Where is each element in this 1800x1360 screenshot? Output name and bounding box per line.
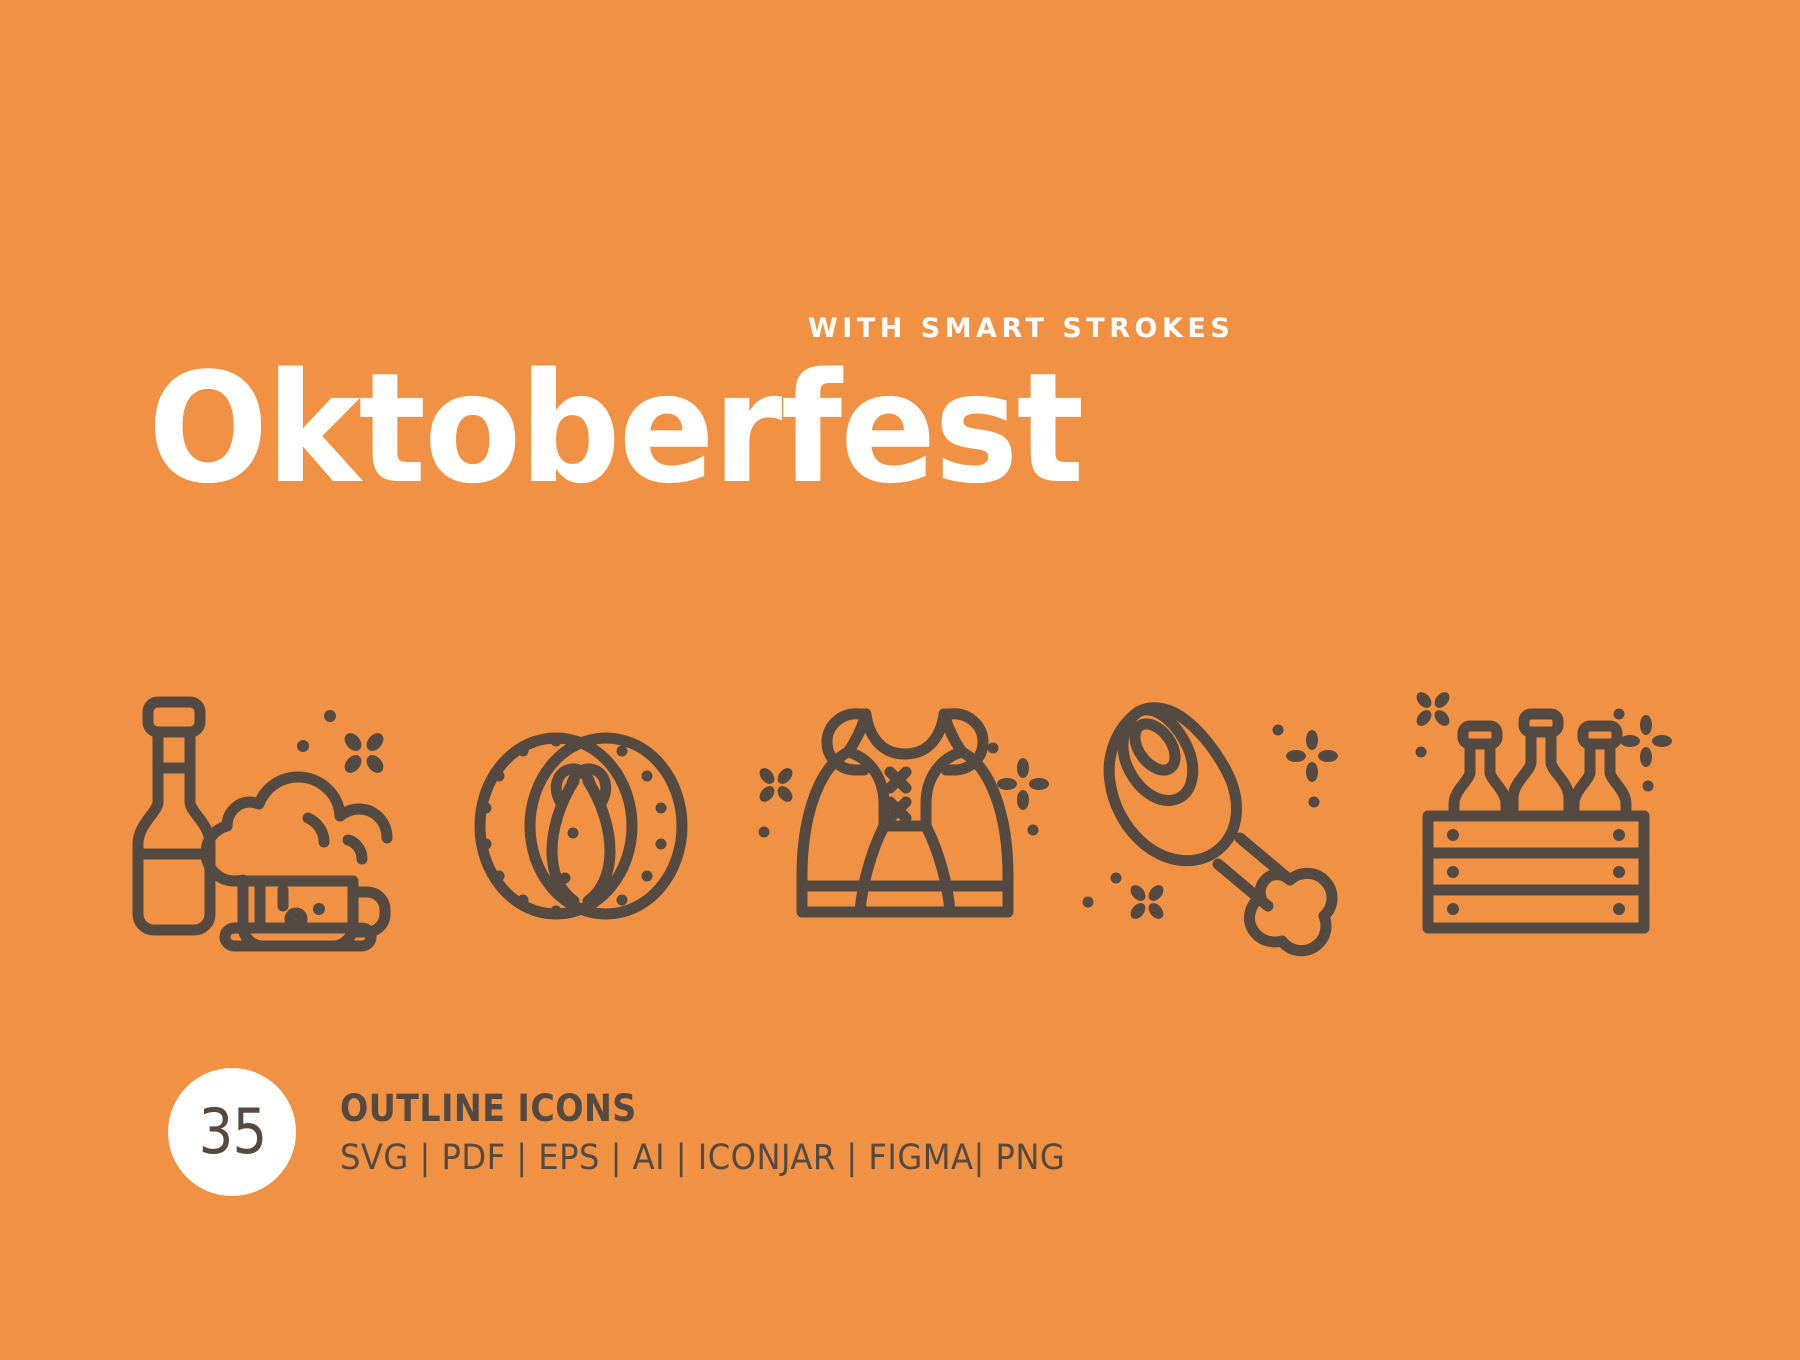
sparkle-left <box>757 765 796 837</box>
pretzel-icon <box>473 708 688 923</box>
icon-cell-beer <box>120 670 390 960</box>
page-title: Oktoberfest <box>148 347 1082 511</box>
icon-showcase-row <box>120 670 1690 960</box>
beer-crate-icon <box>1420 690 1690 940</box>
sparkle-cluster <box>341 730 387 776</box>
eyebrow-text: WITH SMART STROKES <box>808 315 1234 342</box>
icon-cell-pretzel <box>445 670 715 960</box>
corset-lacing <box>890 772 906 818</box>
icon-count-value: 35 <box>198 1101 266 1163</box>
icon-count-badge: 35 <box>168 1068 296 1196</box>
ham-hock-icon <box>1100 690 1360 940</box>
icon-cell-crate <box>1420 670 1690 960</box>
sparkle-bottom-left <box>1083 873 1167 922</box>
footer-text-group: OUTLINE ICONS SVG | PDF | EPS | AI | ICO… <box>340 1086 1128 1178</box>
footer-format-list: SVG | PDF | EPS | AI | ICONJAR | FIGMA| … <box>340 1139 1065 1178</box>
crate-nail-dots <box>1447 829 1625 915</box>
dirndl-dress-icon <box>780 690 1030 940</box>
icon-cell-ham <box>1095 670 1365 960</box>
poster-canvas: WITH SMART STROKES Oktoberfest <box>0 0 1800 1360</box>
footer-heading: OUTLINE ICONS <box>340 1090 1050 1127</box>
sparkle-top-right <box>1273 725 1339 808</box>
beer-bottle-and-mug-icon <box>123 680 388 950</box>
footer-block: 35 OUTLINE ICONS SVG | PDF | EPS | AI | … <box>168 1068 1128 1196</box>
sparkle-crate-left <box>1414 689 1453 757</box>
icon-cell-dress <box>770 670 1040 960</box>
sparkle-crate-right <box>1614 709 1673 792</box>
